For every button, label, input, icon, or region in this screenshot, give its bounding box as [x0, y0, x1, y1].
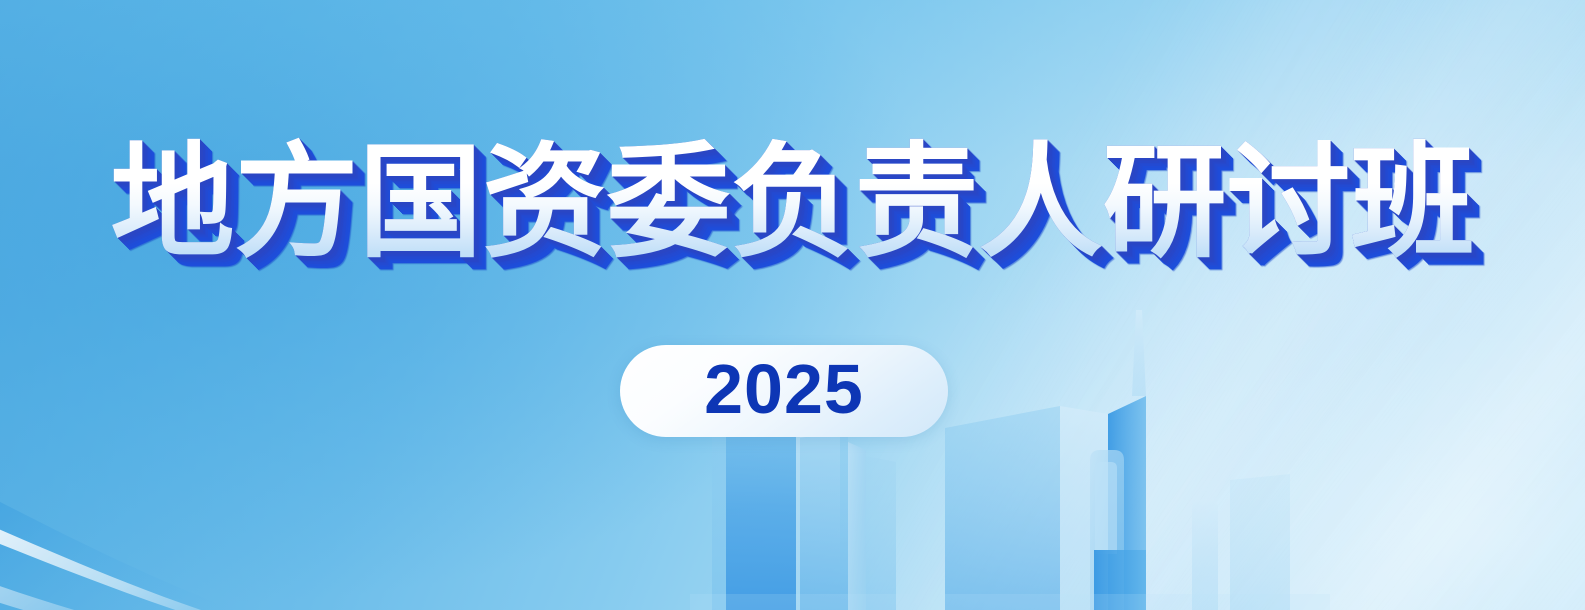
year-badge: 2025 — [620, 345, 948, 437]
event-banner: 地方国资委负责人研讨班 地方国资委负责人研讨班 2025 — [0, 0, 1585, 610]
year-badge-label: 2025 — [704, 354, 864, 428]
